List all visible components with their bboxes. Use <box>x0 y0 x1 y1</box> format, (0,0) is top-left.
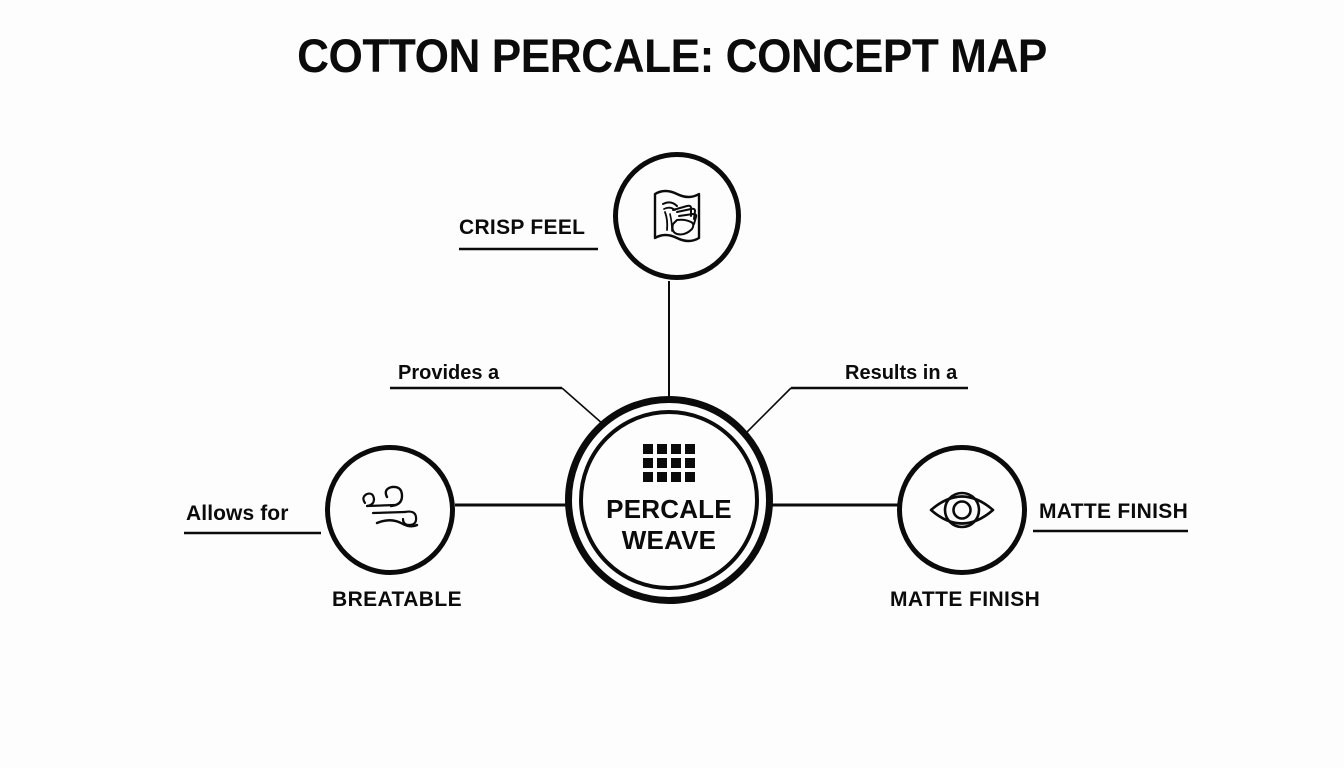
node-crisp-feel[interactable] <box>613 152 741 280</box>
label-matte-finish-bottom: MATTE FINISH <box>890 588 1040 612</box>
weave-cell <box>685 444 695 454</box>
label-results-in-a: Results in a <box>845 362 957 385</box>
label-matte-finish-right: MATTE FINISH <box>1039 500 1188 524</box>
weave-cell <box>657 444 667 454</box>
weave-cell <box>671 472 681 482</box>
weave-grid-icon <box>643 444 695 482</box>
center-label-line1: PERCALE <box>606 494 732 525</box>
eye-icon <box>902 450 1022 570</box>
connector-lines <box>0 0 1344 768</box>
hand-on-fabric-icon <box>618 157 736 275</box>
wind-airflow-icon <box>330 450 450 570</box>
weave-cell <box>643 458 653 468</box>
center-node-label: PERCALE WEAVE <box>606 494 732 555</box>
center-label-line2: WEAVE <box>606 525 732 556</box>
concept-map-canvas: COTTON PERCALE: CONCEPT MAP CRISP FEEL <box>0 0 1344 768</box>
weave-cell <box>671 444 681 454</box>
weave-cell <box>685 458 695 468</box>
label-allows-for: Allows for <box>186 502 289 526</box>
weave-cell <box>657 458 667 468</box>
node-matte-finish[interactable] <box>897 445 1027 575</box>
weave-cell <box>643 444 653 454</box>
label-crisp-feel: CRISP FEEL <box>459 216 585 240</box>
label-breatable: BREATABLE <box>332 588 462 612</box>
page-title: COTTON PERCALE: CONCEPT MAP <box>40 28 1303 83</box>
weave-cell <box>671 458 681 468</box>
node-breathable[interactable] <box>325 445 455 575</box>
weave-cell <box>643 472 653 482</box>
weave-cell <box>657 472 667 482</box>
weave-cell <box>685 472 695 482</box>
node-percale-weave[interactable]: PERCALE WEAVE <box>565 396 773 604</box>
label-provides-a: Provides a <box>398 362 499 385</box>
